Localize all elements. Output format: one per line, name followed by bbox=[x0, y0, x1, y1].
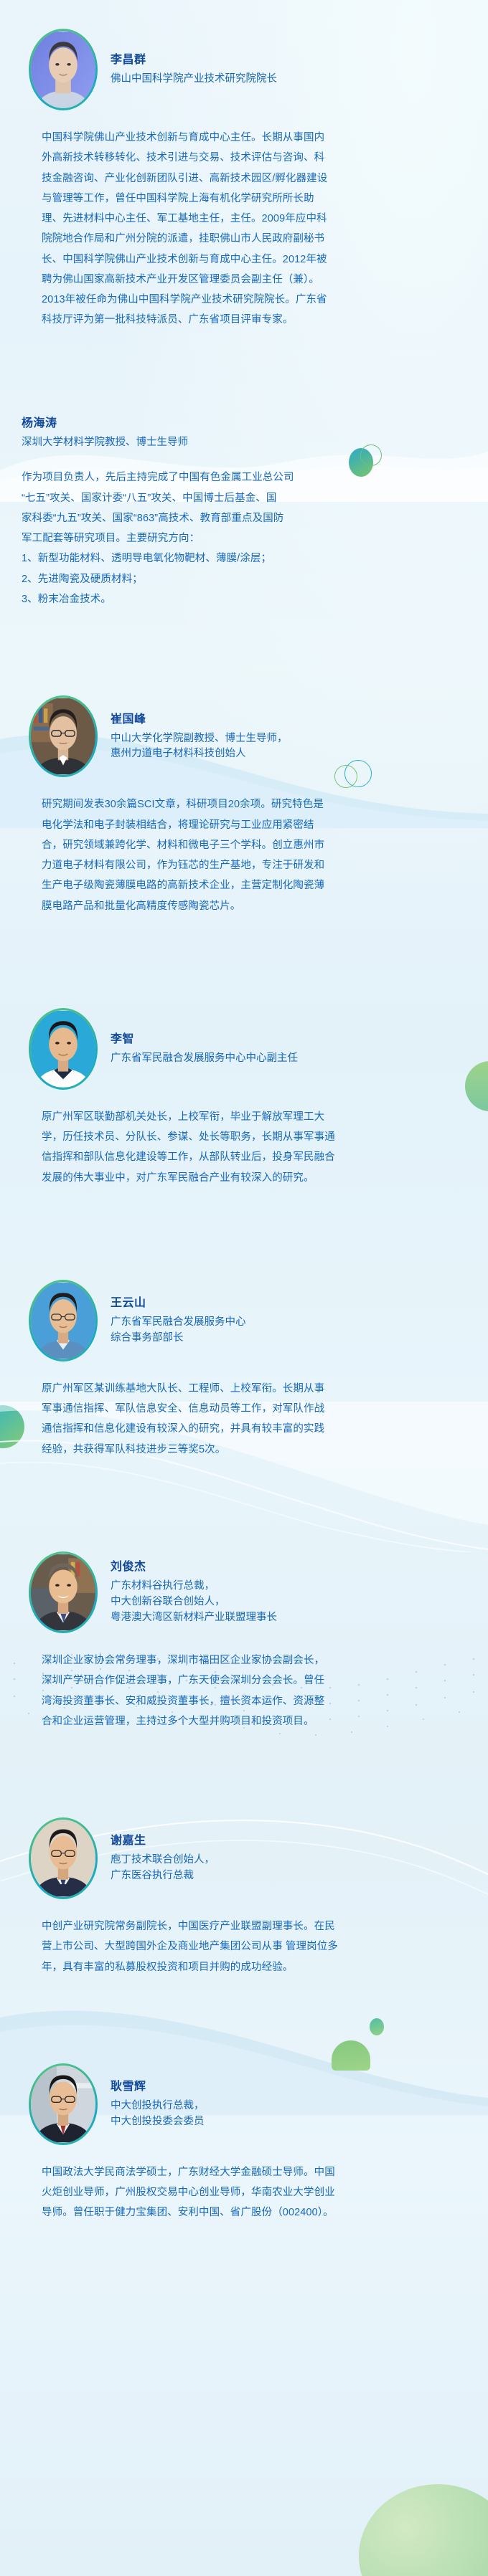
avatar bbox=[31, 1010, 95, 1088]
bio-line: 火炬创业导师，广州股权交易中心创业导师，华南农业大学创业 bbox=[42, 2182, 446, 2202]
bio-line: 生产电子级陶瓷薄膜电路的高新技术企业，主营定制化陶瓷薄 bbox=[42, 875, 446, 895]
avatar-ring bbox=[29, 1551, 98, 1633]
avatar-ring bbox=[29, 1817, 98, 1899]
profile-title: 中大创投执行总裁， 中大创投投委会委员 bbox=[111, 2099, 205, 2130]
bio-line: 聘为佛山国家高新技术产业开发区管理委员会副主任（兼）。 bbox=[42, 270, 446, 290]
bio-line: 军工配套等研究项目。主要研究方向： bbox=[22, 528, 446, 548]
profile-header: 刘俊杰 广东材料谷执行总裁， 中大创新谷联合创始人， 粤港澳大湾区新材料产业联盟… bbox=[20, 1551, 468, 1633]
bio-line: 合，研究领域兼跨化学、材料和微电子三个学科。创立惠州市 bbox=[42, 835, 446, 855]
profile-identity: 谢嘉生 庖丁技术联合创始人， 广东医谷执行总裁 bbox=[111, 1833, 215, 1884]
bio-line: 原广州军区联勤部机关处长，上校军衔，毕业于解放军理工大 bbox=[42, 1107, 446, 1127]
bio-line: 膜电路产品和批量化高精度传感陶瓷芯片。 bbox=[42, 896, 446, 916]
bio-line: 军事通信指挥、军队信息安全、信息动员等工作，对军队作战 bbox=[42, 1399, 446, 1419]
profile-identity: 刘俊杰 广东材料谷执行总裁， 中大创新谷联合创始人， 粤港澳大湾区新材料产业联盟… bbox=[111, 1559, 277, 1625]
profile-card: 王云山 广东省军民融合发展服务中心 综合事务部部长 原广州军区某训练基地大队长、… bbox=[0, 1280, 488, 1460]
profile-title-line: 中大创新谷联合创始人， bbox=[111, 1594, 277, 1610]
profile-bio: 研究期间发表30余篇SCI文章，科研项目20余项。研究特色是 电化学法和电子封装… bbox=[42, 794, 446, 916]
bio-line: 中国政法大学民商法学硕士，广东财经大学金融硕士导师。中国 bbox=[42, 2162, 446, 2182]
profile-title-line: 中山大学化学院副教授、博士生导师， bbox=[111, 731, 288, 747]
profile-header: 李昌群 佛山中国科学院产业技术研究院院长 bbox=[20, 29, 468, 110]
profile-name: 刘俊杰 bbox=[111, 1559, 277, 1576]
profile-bio: 原广州军区联勤部机关处长，上校军衔，毕业于解放军理工大 学，历任技术员、分队长、… bbox=[42, 1107, 446, 1188]
profile-bio: 原广州军区某训练基地大队长、工程师、上校军衔。长期从事 军事通信指挥、军队信息安… bbox=[42, 1379, 446, 1460]
profile-name: 杨海涛 bbox=[22, 415, 468, 432]
profile-title-line: 综合事务部部长 bbox=[111, 1331, 246, 1346]
bio-line: 力道电子材料有限公司，作为钰芯的生产基地，专注于研发和 bbox=[42, 855, 446, 875]
profile-card: 李昌群 佛山中国科学院产业技术研究院院长 中国科学院佛山产业技术创新与育成中心主… bbox=[0, 29, 488, 331]
portrait-image bbox=[31, 698, 95, 775]
avatar bbox=[31, 1820, 95, 1897]
portrait-image bbox=[31, 1820, 95, 1897]
profile-title-line: 中大创投执行总裁， bbox=[111, 2099, 205, 2114]
profile-identity: 李智 广东省军民融合发展服务中心中心副主任 bbox=[111, 1031, 298, 1067]
profile-bio: 作为项目负责人，先后主持完成了中国有色金属工业总公司 “七五”攻关、国家计委“八… bbox=[22, 467, 446, 609]
bio-line: 理、先进材料中心主任、军工基地主任，主任。2009年应中科 bbox=[42, 209, 446, 229]
profile-header: 崔国峰 中山大学化学院副教授、博士生导师， 惠州力道电子材料科技创始人 bbox=[20, 695, 468, 777]
bio-line: 深圳产学研合作促进会理事，广东天使会深圳分会会长。曾任 bbox=[42, 1670, 446, 1691]
bio-line: 家科委“九五”攻关、国家“863”高技术、教育部重点及国防 bbox=[22, 508, 446, 528]
profile-header: 李智 广东省军民融合发展服务中心中心副主任 bbox=[20, 1008, 468, 1090]
avatar bbox=[31, 1554, 95, 1631]
avatar bbox=[31, 1282, 95, 1359]
bio-line: 年，具有丰富的私募股权投资和项目并购的成功经验。 bbox=[42, 1957, 446, 1977]
profile-title-line: 深圳大学材料学院教授、博士生导师 bbox=[22, 435, 468, 451]
profile-bio: 中创产业研究院常务副院长，中国医疗产业联盟副理事长。在民 营上市公司、大型跨国外… bbox=[42, 1916, 446, 1977]
portrait-image bbox=[31, 1554, 95, 1631]
bio-line: 作为项目负责人，先后主持完成了中国有色金属工业总公司 bbox=[22, 467, 446, 488]
profile-name: 李昌群 bbox=[111, 52, 277, 69]
bio-line: 2、先进陶瓷及硬质材料； bbox=[22, 569, 446, 589]
bio-line: 学，历任技术员、分队长、参谋、处长等职务，长期从事军事通 bbox=[42, 1127, 446, 1147]
bio-line: 科技厅评为第一批科技特派员、广东省项目评审专家。 bbox=[42, 310, 446, 330]
bio-line: 原广州军区某训练基地大队长、工程师、上校军衔。长期从事 bbox=[42, 1379, 446, 1399]
bio-line: 技金融咨询、产业化创新团队引进、高新技术园区/孵化器建设 bbox=[42, 168, 446, 189]
bio-line: 院院地合作局和广州分院的派遣，挂职佛山市人民政府副秘书 bbox=[42, 229, 446, 249]
profile-identity: 耿雪辉 中大创投执行总裁， 中大创投投委会委员 bbox=[111, 2078, 205, 2130]
profile-title-line: 惠州力道电子材料科技创始人 bbox=[111, 746, 288, 762]
bio-line: 发展的伟大事业中，对广东军民融合产业有较深入的研究。 bbox=[42, 1168, 446, 1188]
profile-title-line: 粤港澳大湾区新材料产业联盟理事长 bbox=[111, 1610, 277, 1626]
bio-line: “七五”攻关、国家计委“八五”攻关、中国博士后基金、国 bbox=[22, 488, 446, 508]
bio-line: 通信指挥和信息化建设有较深入的研究，并具有较丰富的实践 bbox=[42, 1419, 446, 1439]
profile-identity: 杨海涛 深圳大学材料学院教授、博士生导师 bbox=[22, 415, 468, 451]
profile-title: 广东省军民融合发展服务中心 综合事务部部长 bbox=[111, 1315, 246, 1346]
profile-card: 谢嘉生 庖丁技术联合创始人， 广东医谷执行总裁 中创产业研究院常务副院长，中国医… bbox=[0, 1817, 488, 1977]
profile-title: 广东材料谷执行总裁， 中大创新谷联合创始人， 粤港澳大湾区新材料产业联盟理事长 bbox=[111, 1579, 277, 1625]
bio-line: 2013年被任命为佛山中国科学院产业技术研究院院长。广东省 bbox=[42, 290, 446, 310]
bio-line: 营上市公司、大型跨国外企及商业地产集团公司从事 管理岗位多 bbox=[42, 1936, 446, 1957]
profile-identity: 崔国峰 中山大学化学院副教授、博士生导师， 惠州力道电子材料科技创始人 bbox=[111, 711, 288, 763]
bio-line: 3、粉末冶金技术。 bbox=[22, 589, 446, 609]
profile-title-line: 佛山中国科学院产业技术研究院院长 bbox=[111, 72, 277, 87]
bio-line: 深圳企业家协会常务理事，深圳市福田区企业家协会副会长， bbox=[42, 1650, 446, 1670]
bio-line: 外高新技术转移转化、技术引进与交易、技术评估与咨询、科 bbox=[42, 148, 446, 168]
profile-name: 谢嘉生 bbox=[111, 1833, 215, 1850]
profile-identity: 王云山 广东省军民融合发展服务中心 综合事务部部长 bbox=[111, 1295, 246, 1346]
profile-header: 王云山 广东省军民融合发展服务中心 综合事务部部长 bbox=[20, 1280, 468, 1361]
profile-header: 耿雪辉 中大创投执行总裁， 中大创投投委会委员 bbox=[20, 2063, 468, 2145]
bio-line: 导师。曾任职于健力宝集团、安利中国、省广股份（002400）。 bbox=[42, 2202, 446, 2223]
portrait-image bbox=[31, 1010, 95, 1088]
profile-name: 崔国峰 bbox=[111, 711, 288, 728]
profile-title-line: 广东省军民融合发展服务中心 bbox=[111, 1315, 246, 1331]
avatar-ring bbox=[29, 1008, 98, 1090]
expert-profiles-page: 李昌群 佛山中国科学院产业技术研究院院长 中国科学院佛山产业技术创新与育成中心主… bbox=[0, 0, 488, 2576]
avatar-ring bbox=[29, 1280, 98, 1361]
profile-card: 崔国峰 中山大学化学院副教授、博士生导师， 惠州力道电子材料科技创始人 研究期间… bbox=[0, 695, 488, 916]
profile-name: 耿雪辉 bbox=[111, 2078, 205, 2096]
profile-card: 耿雪辉 中大创投执行总裁， 中大创投投委会委员 中国政法大学民商法学硕士，广东财… bbox=[0, 2063, 488, 2223]
profile-title-line: 中大创投投委会委员 bbox=[111, 2114, 205, 2130]
profile-identity: 李昌群 佛山中国科学院产业技术研究院院长 bbox=[111, 52, 277, 87]
bio-line: 1、新型功能材料、透明导电氧化物靶材、薄膜/涂层； bbox=[22, 548, 446, 569]
avatar bbox=[31, 698, 95, 775]
profile-card: 李智 广东省军民融合发展服务中心中心副主任 原广州军区联勤部机关处长，上校军衔，… bbox=[0, 1008, 488, 1188]
profile-header: 杨海涛 深圳大学材料学院教授、博士生导师 bbox=[20, 415, 468, 451]
profile-title: 中山大学化学院副教授、博士生导师， 惠州力道电子材料科技创始人 bbox=[111, 731, 288, 763]
profile-card: 刘俊杰 广东材料谷执行总裁， 中大创新谷联合创始人， 粤港澳大湾区新材料产业联盟… bbox=[0, 1551, 488, 1731]
profile-card: 杨海涛 深圳大学材料学院教授、博士生导师 作为项目负责人，先后主持完成了中国有色… bbox=[0, 415, 488, 610]
avatar-ring bbox=[29, 2063, 98, 2145]
avatar-ring bbox=[29, 695, 98, 777]
profile-name: 李智 bbox=[111, 1031, 298, 1048]
profile-title-line: 广东省军民融合发展服务中心中心副主任 bbox=[111, 1051, 298, 1067]
profile-title-line: 广东材料谷执行总裁， bbox=[111, 1579, 277, 1594]
bio-line: 合和企业运营管理，主持过多个大型并购项目和投资项目。 bbox=[42, 1711, 446, 1731]
portrait-image bbox=[31, 31, 95, 108]
profile-bio: 中国政法大学民商法学硕士，广东财经大学金融硕士导师。中国 火炬创业导师，广州股权… bbox=[42, 2162, 446, 2223]
profile-title: 庖丁技术联合创始人， 广东医谷执行总裁 bbox=[111, 1853, 215, 1884]
portrait-image bbox=[31, 1282, 95, 1359]
portrait-image bbox=[31, 2066, 95, 2143]
bio-line: 中创产业研究院常务副院长，中国医疗产业联盟副理事长。在民 bbox=[42, 1916, 446, 1936]
profile-bio: 中国科学院佛山产业技术创新与育成中心主任。长期从事国内 外高新技术转移转化、技术… bbox=[42, 128, 446, 331]
circle-decoration-bottom-green bbox=[359, 2484, 488, 2576]
bio-line: 信指挥和部队信息化建设等工作，从部队转业后，投身军民融合 bbox=[42, 1147, 446, 1167]
bio-line: 与管理等工作，曾任中国科学院上海有机化学研究所所长助 bbox=[42, 189, 446, 209]
profile-title: 深圳大学材料学院教授、博士生导师 bbox=[22, 435, 468, 451]
bio-line: 长、中国科学院佛山产业技术创新与育成中心主任。2012年被 bbox=[42, 249, 446, 270]
profile-title: 佛山中国科学院产业技术研究院院长 bbox=[111, 72, 277, 87]
profile-header: 谢嘉生 庖丁技术联合创始人， 广东医谷执行总裁 bbox=[20, 1817, 468, 1899]
profile-bio: 深圳企业家协会常务理事，深圳市福田区企业家协会副会长， 深圳产学研合作促进会理事… bbox=[42, 1650, 446, 1731]
bio-line: 湾海投资董事长、安和威投资董事长，擅长资本运作、资源整 bbox=[42, 1691, 446, 1711]
profile-title: 广东省军民融合发展服务中心中心副主任 bbox=[111, 1051, 298, 1067]
avatar bbox=[31, 31, 95, 108]
avatar bbox=[31, 2066, 95, 2143]
profile-name: 王云山 bbox=[111, 1295, 246, 1312]
bio-line: 中国科学院佛山产业技术创新与育成中心主任。长期从事国内 bbox=[42, 128, 446, 148]
profile-title-line: 广东医谷执行总裁 bbox=[111, 1868, 215, 1884]
avatar-ring bbox=[29, 29, 98, 110]
profile-title-line: 庖丁技术联合创始人， bbox=[111, 1853, 215, 1868]
bio-line: 电化学法和电子封装相结合，将理论研究与工业应用紧密结 bbox=[42, 815, 446, 835]
bio-line: 经验，共获得军队科技进步三等奖5次。 bbox=[42, 1440, 446, 1460]
bio-line: 研究期间发表30余篇SCI文章，科研项目20余项。研究特色是 bbox=[42, 794, 446, 814]
